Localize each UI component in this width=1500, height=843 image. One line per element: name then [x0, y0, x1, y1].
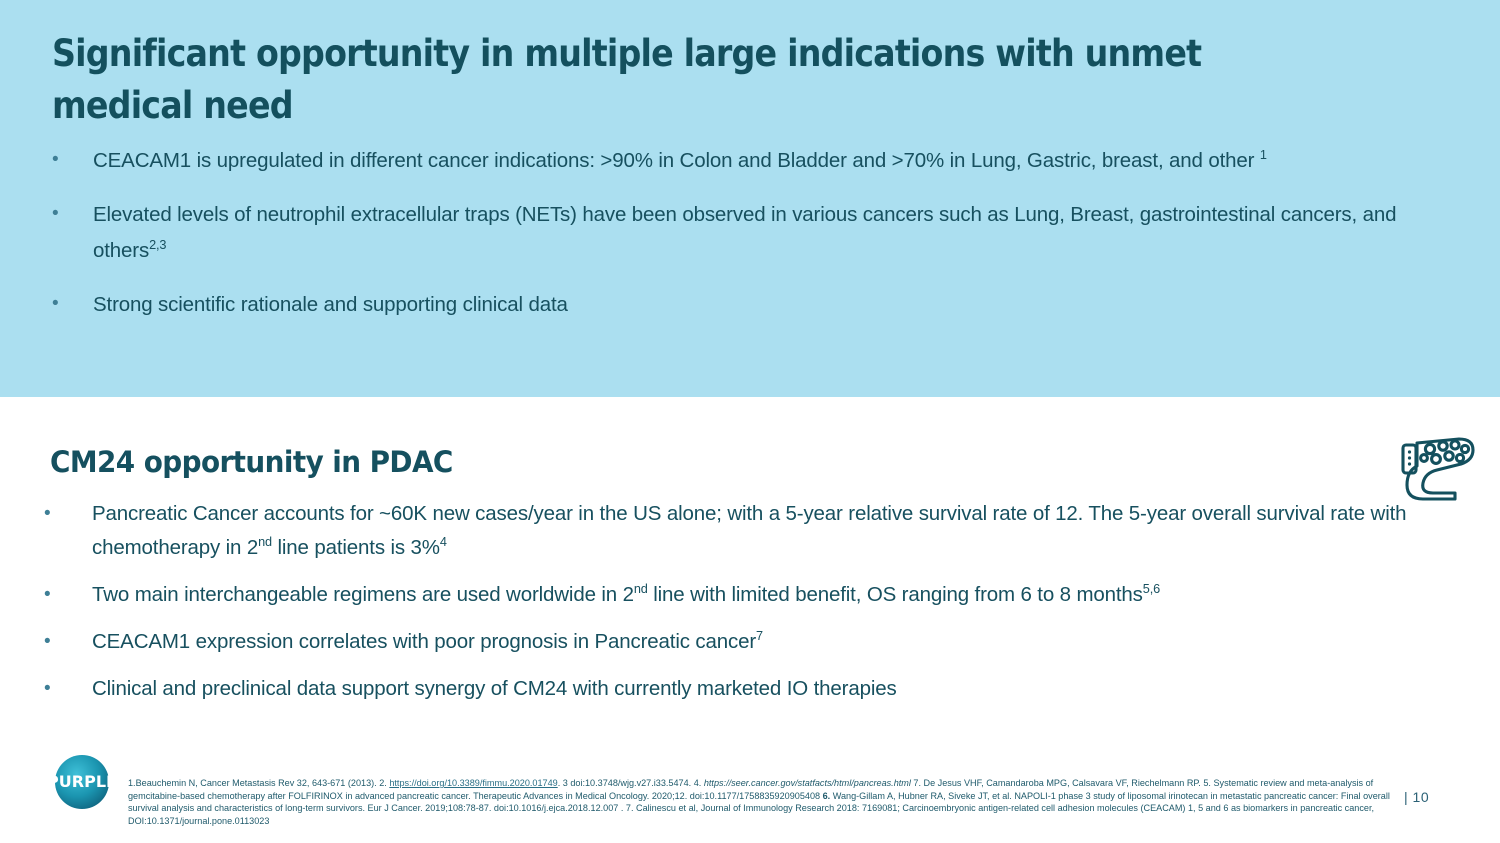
page-number: | 10	[1404, 789, 1429, 805]
ref-link-doi[interactable]: https://doi.org/10.3389/fimmu.2020.01749	[389, 778, 557, 788]
list-item: • Clinical and preclinical data support …	[44, 672, 1444, 706]
bullet-text: Elevated levels of neutrophil extracellu…	[93, 197, 1422, 269]
bullet-glyph: •	[52, 143, 93, 176]
bullet-glyph: •	[44, 625, 92, 659]
ref-segment-1: 1.Beauchemin N, Cancer Metastasis Rev 32…	[128, 778, 389, 788]
footnote-ref: 4	[440, 534, 447, 549]
banner-bullet-list: • CEACAM1 is upregulated in different ca…	[52, 143, 1422, 341]
list-item: • Two main interchangeable regimens are …	[44, 578, 1444, 612]
bullet-glyph: •	[44, 672, 92, 706]
top-banner: Significant opportunity in multiple larg…	[0, 0, 1500, 397]
bullet-glyph: •	[52, 287, 93, 320]
footnote-ref: 7	[756, 628, 763, 643]
ordinal-suffix: nd	[634, 581, 648, 596]
pancreas-icon	[1393, 433, 1481, 503]
section-heading-pdac: CM24 opportunity in PDAC	[50, 445, 453, 479]
bullet-glyph: •	[52, 197, 93, 230]
footnote-ref: 2,3	[149, 237, 166, 252]
list-item: • CEACAM1 is upregulated in different ca…	[52, 143, 1422, 179]
bullet-text: Two main interchangeable regimens are us…	[92, 578, 1444, 612]
ref-link-seer[interactable]: https://seer.cancer.gov/statfacts/html/p…	[704, 778, 911, 788]
logo-wordmark: PURPLE	[47, 772, 117, 791]
purple-biotech-logo: PURPLE	[38, 752, 126, 812]
bullet-text: Strong scientific rationale and supporti…	[93, 287, 1422, 323]
bullet-text: CEACAM1 expression correlates with poor …	[92, 625, 1444, 659]
list-item: • Strong scientific rationale and suppor…	[52, 287, 1422, 323]
footnote-ref: 1	[1260, 147, 1267, 162]
slide-title: Significant opportunity in multiple larg…	[52, 28, 1213, 132]
bullet-glyph: •	[44, 578, 92, 612]
list-item: • Elevated levels of neutrophil extracel…	[52, 197, 1422, 269]
list-item: • CEACAM1 expression correlates with poo…	[44, 625, 1444, 659]
bullet-text: Clinical and preclinical data support sy…	[92, 672, 1444, 706]
list-item: • Pancreatic Cancer accounts for ~60K ne…	[44, 497, 1444, 565]
pdac-bullet-list: • Pancreatic Cancer accounts for ~60K ne…	[44, 497, 1444, 719]
bullet-text: CEACAM1 is upregulated in different canc…	[93, 143, 1422, 179]
bullet-text: Pancreatic Cancer accounts for ~60K new …	[92, 497, 1444, 565]
ref-segment-2: . 3 doi:10.3748/wjg.v27.i33.5474. 4.	[558, 778, 704, 788]
ordinal-suffix: nd	[258, 534, 272, 549]
footnote-ref: 5,6	[1143, 581, 1160, 596]
references-footnote: 1.Beauchemin N, Cancer Metastasis Rev 32…	[128, 777, 1396, 827]
bullet-glyph: •	[44, 497, 92, 531]
